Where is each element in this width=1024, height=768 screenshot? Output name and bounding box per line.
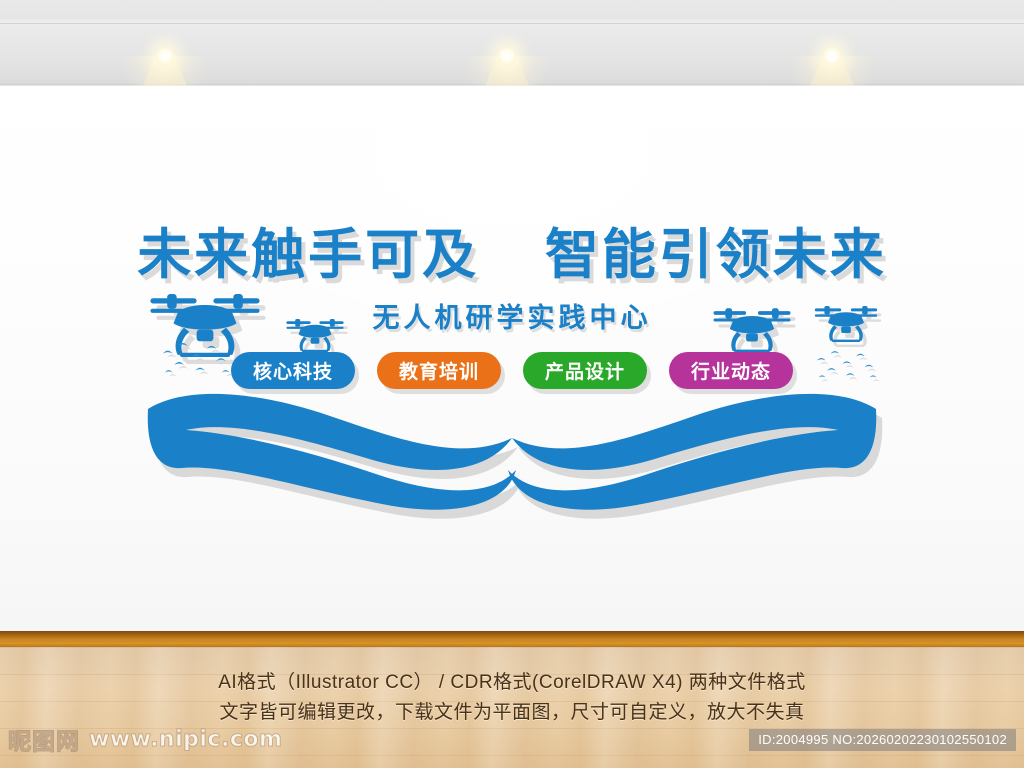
pill-industry-news-label: 行业动态 [691, 357, 771, 384]
ceiling [0, 0, 1024, 86]
headline-part-1: 未来触手可及 [137, 223, 479, 286]
wall-artwork: 未来触手可及 智能引领未来 无人机研学实践中心 核心科技 教育培训 产品设计 行… [0, 86, 1024, 631]
screenshot-root: 未来触手可及 智能引领未来 无人机研学实践中心 核心科技 教育培训 产品设计 行… [0, 0, 1024, 768]
pill-product-design-label: 产品设计 [545, 357, 625, 384]
pill-product-design[interactable]: 产品设计 [523, 352, 647, 389]
pill-education-training-label: 教育培训 [399, 357, 479, 384]
headline: 未来触手可及 智能引领未来 [0, 210, 1024, 289]
pill-core-technology-label: 核心科技 [253, 357, 333, 384]
pill-core-technology[interactable]: 核心科技 [231, 352, 355, 389]
ceiling-spot-left-icon [156, 47, 174, 65]
pill-education-training[interactable]: 教育培训 [377, 352, 501, 389]
watermark-site-url: www.nipic.com [89, 727, 282, 752]
ceiling-seam [0, 23, 1024, 24]
format-caption: AI格式（Illustrator CC） / CDR格式(CorelDRAW X… [0, 668, 1024, 728]
ceiling-spot-right-icon [823, 47, 841, 65]
baseboard-strip [0, 631, 1024, 647]
asset-id-bar: ID:2004995 NO:20260202230102550102 [749, 729, 1016, 751]
headline-part-2: 智能引领未来 [545, 223, 887, 286]
subtitle: 无人机研学实践中心 [0, 296, 1024, 335]
pill-industry-news[interactable]: 行业动态 [669, 352, 793, 389]
pill-row: 核心科技 教育培训 产品设计 行业动态 [0, 352, 1024, 389]
watermark-site-name: 昵图网 [8, 722, 80, 756]
caption-line-1: AI格式（Illustrator CC） / CDR格式(CorelDRAW X… [0, 668, 1024, 698]
site-watermark: 昵图网 www.nipic.com [8, 722, 282, 756]
ceiling-spot-center-icon [498, 47, 516, 65]
